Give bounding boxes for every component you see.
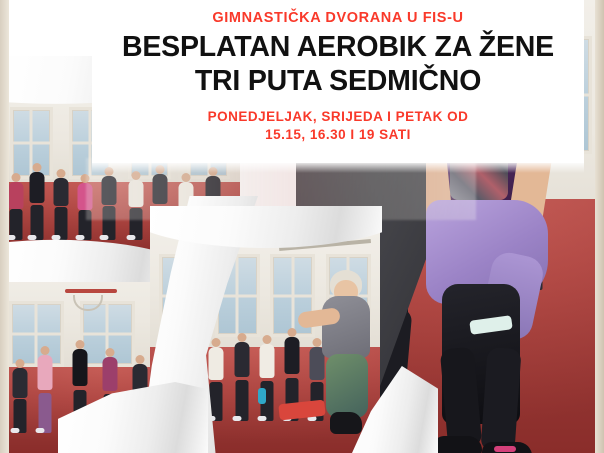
venue-kicker: GIMNASTIČKA DVORANA U FIS-U [212, 11, 463, 27]
poster-canvas: GIMNASTIČKA DVORANA U FIS-U BESPLATAN AE… [0, 0, 604, 453]
edge-strip-left [0, 0, 9, 453]
photo-center [150, 222, 380, 453]
schedule-line-2: 15.15, 16.30 I 19 SATI [265, 127, 411, 144]
headline-text-panel: GIMNASTIČKA DVORANA U FIS-U BESPLATAN AE… [92, 0, 584, 163]
edge-strip-right [595, 0, 604, 453]
schedule-line-1: PONEDJELJAK, SRIJEDA I PETAK OD [208, 109, 469, 126]
headline-line-1: BESPLATAN AEROBIK ZA ŽENE [122, 31, 554, 65]
headline-line-2: TRI PUTA SEDMIČNO [195, 65, 481, 99]
